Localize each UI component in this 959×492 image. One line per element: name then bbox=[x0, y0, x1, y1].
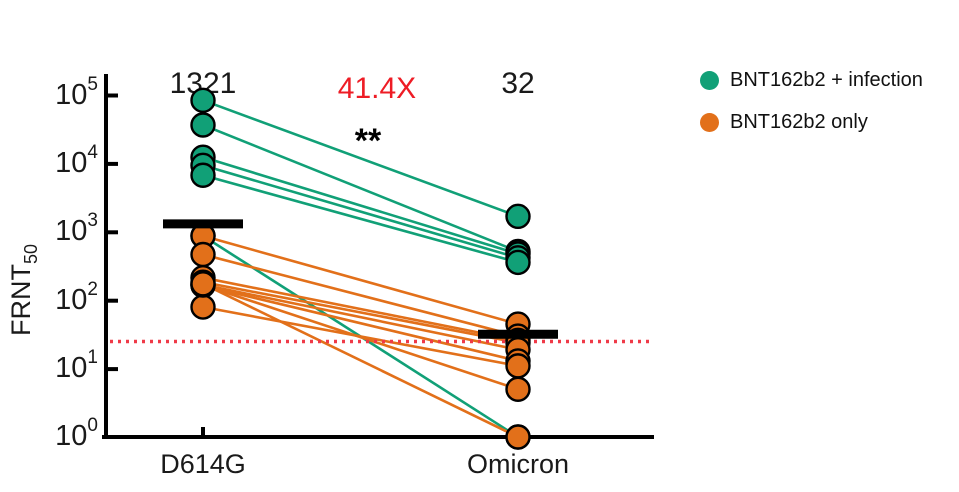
data-point bbox=[192, 164, 215, 187]
annotation-significance: ** bbox=[355, 122, 382, 160]
data-point bbox=[192, 296, 215, 319]
legend: BNT162b2 + infection BNT162b2 only bbox=[700, 63, 950, 147]
connector-line bbox=[203, 284, 518, 437]
x-tick-label-d614g: D614G bbox=[160, 449, 246, 479]
data-point bbox=[507, 205, 530, 228]
connector-line bbox=[203, 278, 518, 341]
data-point bbox=[507, 378, 530, 401]
y-axis-tick-labels: 105 104 103 102 101 100 bbox=[55, 74, 98, 452]
data-point bbox=[507, 426, 530, 449]
legend-item-label: BNT162b2 + infection bbox=[730, 69, 923, 92]
y-tick-label: 104 bbox=[55, 142, 98, 179]
data-point bbox=[507, 354, 530, 377]
y-tick-label: 102 bbox=[55, 279, 98, 316]
data-point bbox=[192, 272, 215, 295]
x-tick-label-omicron: Omicron bbox=[467, 449, 569, 479]
legend-item-bnt162b2-only[interactable]: BNT162b2 only bbox=[700, 105, 950, 139]
connector-line bbox=[203, 157, 518, 254]
figure-panel: 105 104 103 102 101 100 FRNT50 bbox=[0, 0, 959, 492]
y-axis-title: FRNT50 bbox=[6, 244, 41, 336]
legend-swatch-orange-icon bbox=[700, 113, 719, 132]
data-point bbox=[192, 89, 215, 112]
connector-line bbox=[203, 282, 518, 343]
data-point bbox=[192, 113, 215, 136]
y-tick-label: 103 bbox=[55, 210, 98, 247]
y-tick-label: 105 bbox=[55, 74, 98, 111]
legend-item-label: BNT162b2 only bbox=[730, 111, 868, 134]
y-tick-label: 101 bbox=[55, 347, 98, 384]
annotation-fold-change: 41.4X bbox=[338, 72, 416, 105]
connector-line bbox=[203, 285, 518, 389]
data-point bbox=[507, 251, 530, 274]
legend-swatch-teal-icon bbox=[700, 71, 719, 90]
data-point bbox=[192, 243, 215, 266]
connector-line bbox=[203, 100, 518, 216]
y-tick-label: 100 bbox=[55, 415, 98, 452]
legend-item-bnt162b2-plus-infection[interactable]: BNT162b2 + infection bbox=[700, 63, 950, 97]
connector-line bbox=[203, 165, 518, 258]
annotation-right-gmt: 32 bbox=[501, 67, 534, 100]
